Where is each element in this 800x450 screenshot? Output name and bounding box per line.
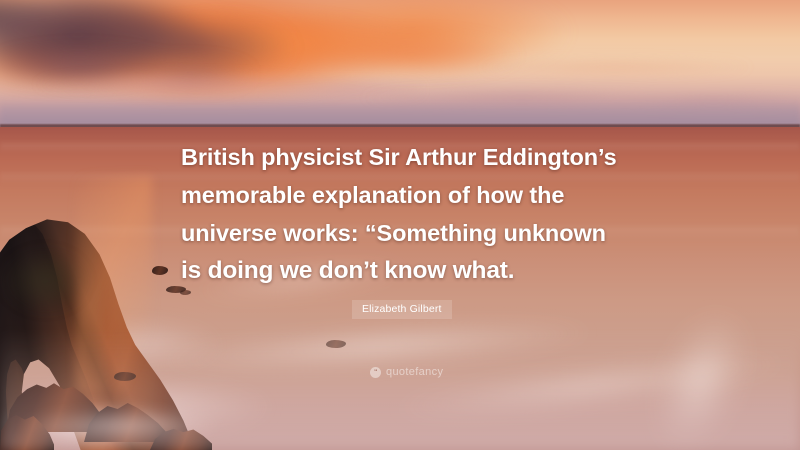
quote-line-2: memorable explanation of how the [181,176,651,214]
horizon-haze [0,100,800,126]
rock-moss-patch [0,216,93,344]
quote-text: British physicist Sir Arthur Eddington’s… [181,138,651,290]
author-attribution: Elizabeth Gilbert [352,300,452,319]
foreground-mist [0,330,800,450]
quote-mark-glyph: “ [374,369,377,376]
quote-wallpaper: British physicist Sir Arthur Eddington’s… [0,0,800,450]
quote-mark-badge-icon: “ [370,367,381,378]
watermark-brand-label: quotefancy [386,366,443,378]
quote-line-1: British physicist Sir Arthur Eddington’s [181,138,651,176]
quotefancy-watermark: “ quotefancy [370,366,443,378]
cloud-wisp [420,52,800,82]
quote-line-4: is doing we don’t know what. [181,252,651,290]
quote-line-3: universe works: “Something unknown [181,214,651,252]
